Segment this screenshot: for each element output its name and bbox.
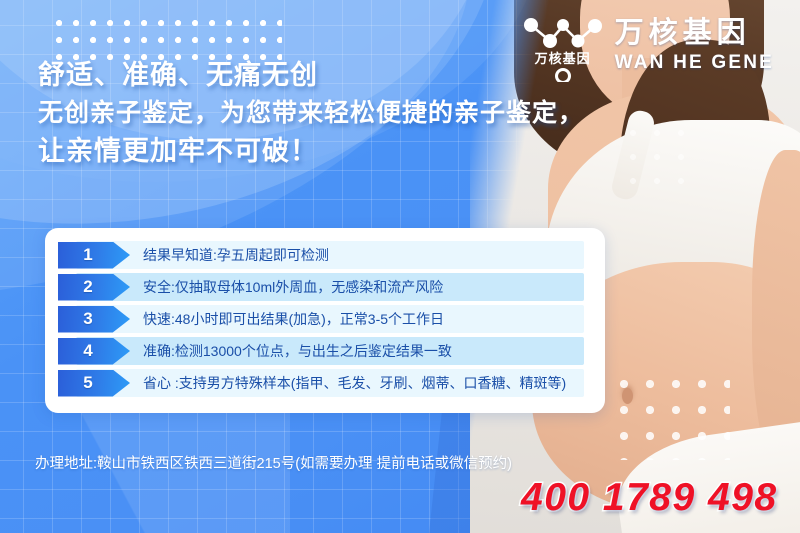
dot-matrix-decoration-bottom (620, 380, 730, 460)
feature-text: 准确:检测13000个位点，与出生之后鉴定结果一致 (143, 341, 452, 361)
feature-text: 安全:仅抽取母体10ml外周血，无感染和流产风险 (143, 277, 443, 297)
feature-row: 2 安全:仅抽取母体10ml外周血，无感染和流产风险 (58, 271, 592, 303)
brand-name-cn: 万核基因 (615, 19, 751, 48)
feature-number: 1 (83, 245, 92, 265)
feature-number: 3 (83, 309, 92, 329)
headline-block: 舒适、准确、无痛无创 无创亲子鉴定，为您带来轻松便捷的亲子鉴定， 让亲情更加牢不… (38, 56, 678, 170)
office-address: 办理地址:鞍山市铁西区铁西三道街215号(如需要办理 提前电话或微信预约) (35, 452, 512, 473)
feature-text: 省心 :支持男方特殊样本(指甲、毛发、牙刷、烟蒂、口香糖、精斑等) (143, 373, 566, 393)
headline-line-1: 舒适、准确、无痛无创 (38, 56, 678, 94)
headline-line-2: 无创亲子鉴定，为您带来轻松便捷的亲子鉴定， (38, 94, 678, 132)
feature-number: 2 (83, 277, 92, 297)
promo-poster: 万核基因 万核基因 WAN HE GENE 舒适、准确、无痛无创 无创亲子鉴定，… (0, 0, 800, 533)
headline-line-3: 让亲情更加牢不可破！ (38, 132, 678, 170)
feature-row: 3 快速:48小时即可出结果(加急)，正常3-5个工作日 (58, 303, 592, 335)
feature-number: 5 (83, 373, 92, 393)
feature-row: 1 结果早知道:孕五周起即可检测 (58, 239, 592, 271)
feature-row: 5 省心 :支持男方特殊样本(指甲、毛发、牙刷、烟蒂、口香糖、精斑等) (58, 367, 592, 399)
contact-phone-number[interactable]: 400 1789 498 (521, 476, 778, 520)
features-card: 1 结果早知道:孕五周起即可检测 2 安全:仅抽取母体10ml外周血，无感染和流… (45, 228, 605, 413)
feature-text: 结果早知道:孕五周起即可检测 (143, 245, 329, 265)
feature-row: 4 准确:检测13000个位点，与出生之后鉴定结果一致 (58, 335, 592, 367)
feature-number: 4 (83, 341, 92, 361)
features-list: 1 结果早知道:孕五周起即可检测 2 安全:仅抽取母体10ml外周血，无感染和流… (58, 239, 592, 399)
feature-text: 快速:48小时即可出结果(加急)，正常3-5个工作日 (143, 309, 444, 329)
